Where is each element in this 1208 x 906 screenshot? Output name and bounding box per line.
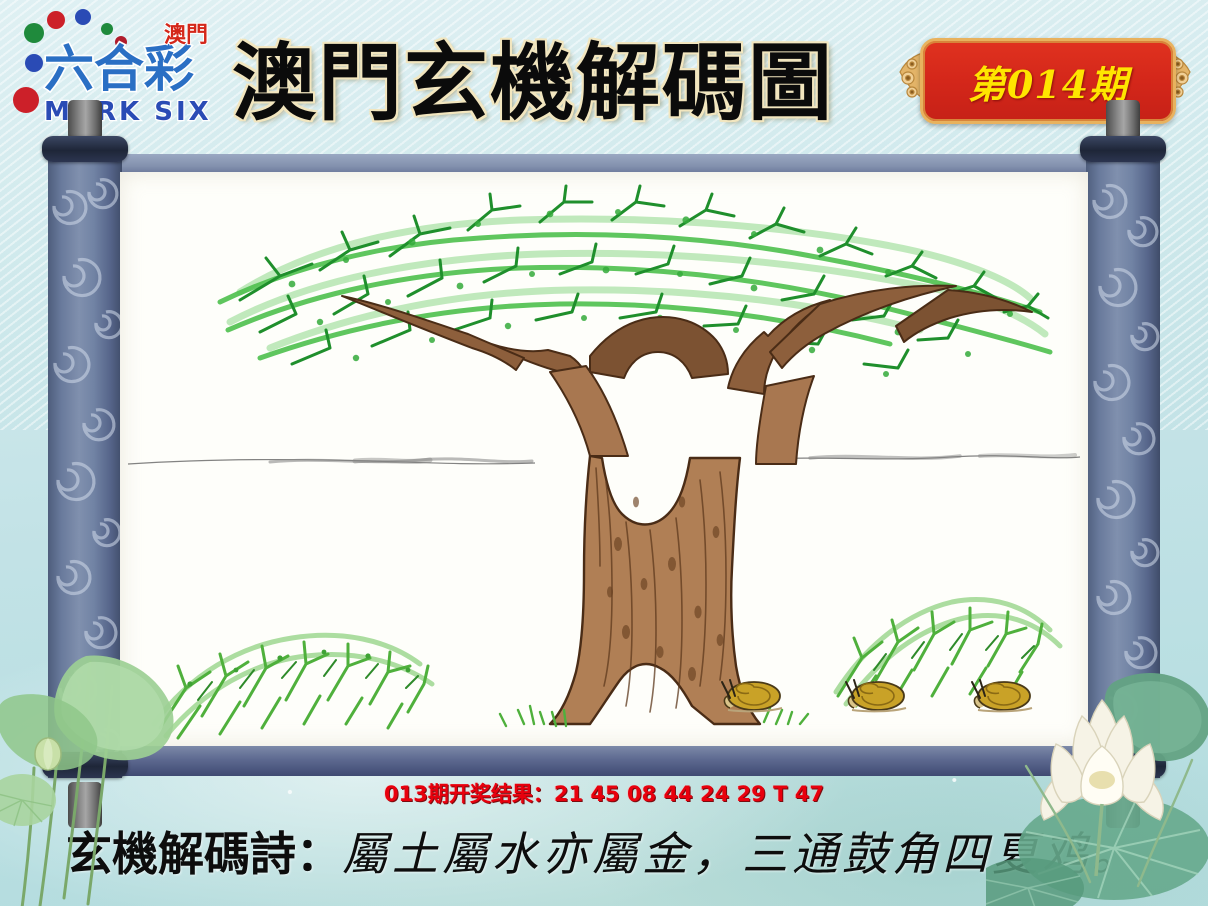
- snail: [846, 680, 906, 711]
- issue-badge-wrapper: 第014期: [898, 36, 1192, 120]
- snail: [722, 680, 782, 711]
- tree-illustration: [120, 172, 1088, 746]
- scroll-cap-top-left: [42, 136, 128, 162]
- page-title: 澳門玄機解碼圖: [232, 22, 892, 130]
- mark-six-logo[interactable]: 六合彩 MARK SIX 澳門: [4, 8, 230, 130]
- lotus-leaf-icon: [0, 655, 174, 770]
- lotus-decoration-left: [0, 648, 224, 906]
- lotus-decoration-right: [986, 636, 1208, 906]
- tree-trunk: [550, 456, 760, 724]
- scroll-knob-top-left: [68, 100, 102, 140]
- logo-brand-cn: 六合彩: [44, 40, 194, 98]
- lotus-pad-icon: [0, 774, 56, 826]
- poster-canvas: 六合彩 MARK SIX 澳門 澳門玄機解碼圖: [0, 0, 1208, 906]
- logo-region-tag: 澳門: [164, 22, 208, 48]
- scroll-knob-top-right: [1106, 100, 1140, 140]
- issue-badge-label: 第014期: [968, 54, 1128, 109]
- scroll-bar-bottom: [106, 746, 1102, 776]
- artwork-canvas: [120, 172, 1088, 746]
- scroll-cap-top-right: [1080, 136, 1166, 162]
- lotus-bud-icon: [35, 738, 61, 770]
